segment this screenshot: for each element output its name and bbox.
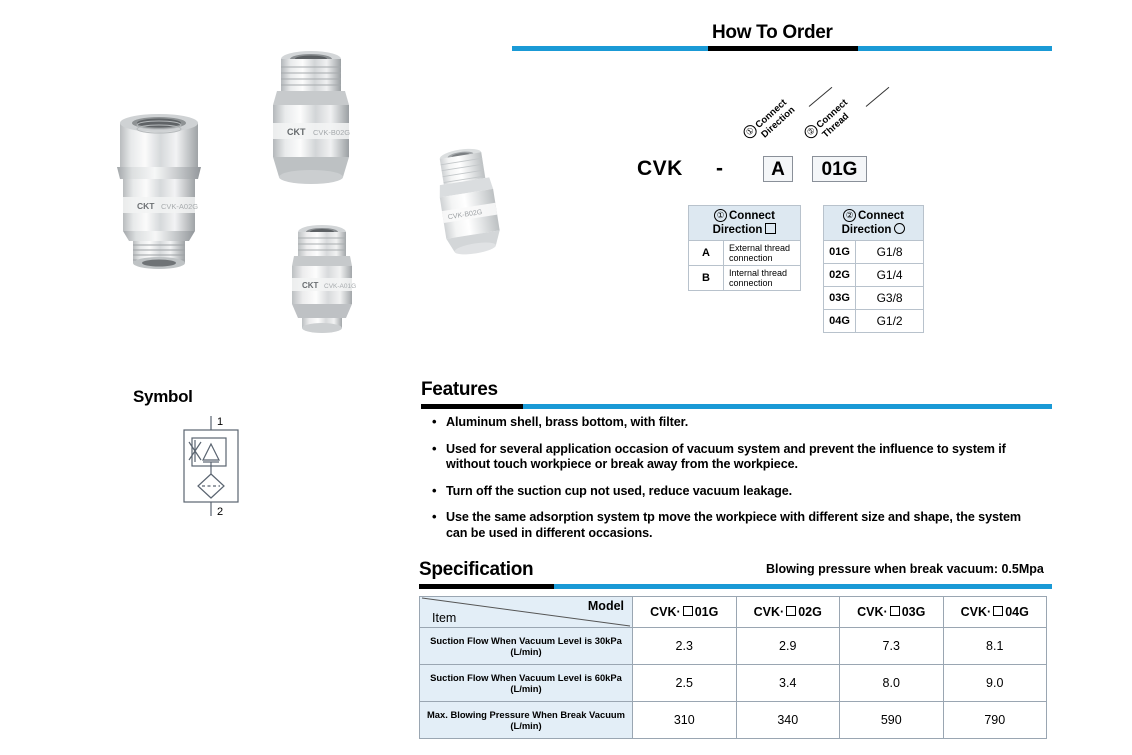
row-label-l2: (L/min): [510, 720, 541, 731]
spec-value: 340: [736, 702, 840, 739]
spec-value: 8.1: [943, 628, 1047, 665]
valve-photo-left: CKT CVK-A02G: [103, 105, 215, 270]
table-row[interactable]: A External thread connection: [689, 241, 801, 266]
thread-table-header: ②Connect Direction: [824, 206, 924, 241]
thread-code-01g: 01G: [824, 241, 856, 264]
feature-item: Use the same adsorption system tp move t…: [430, 510, 1030, 541]
col-suffix: 02G: [798, 605, 822, 619]
square-icon: [765, 223, 776, 234]
thread-value-02g: G1/4: [856, 264, 924, 287]
table-head-row: ①Connect Direction: [689, 206, 801, 241]
spec-value: 310: [633, 702, 737, 739]
feature-item: Turn off the suction cup not used, reduc…: [430, 484, 1030, 500]
row-label-l2: (L/min): [510, 683, 541, 694]
direction-desc-b-l1: Internal thread: [729, 268, 787, 278]
thread-code-02g: 02G: [824, 264, 856, 287]
square-icon: [993, 606, 1003, 616]
order-dash: -: [716, 157, 724, 181]
symbol-port-1: 1: [217, 416, 223, 428]
features-list: Aluminum shell, brass bottom, with filte…: [430, 415, 1030, 552]
symbol-heading: Symbol: [133, 387, 193, 407]
thread-code-04g: 04G: [824, 310, 856, 333]
valve-marking: CKT: [137, 201, 155, 211]
spec-row-label-3: Max. Blowing Pressure When Break Vacuum …: [420, 702, 633, 739]
spec-corner-item: Item: [432, 611, 456, 625]
row-label-l1: Suction Flow When Vacuum Level is 30kPa: [430, 635, 622, 646]
direction-code-a: A: [689, 241, 724, 266]
feature-item: Used for several application occasion of…: [430, 442, 1030, 473]
col-suffix: 04G: [1005, 605, 1029, 619]
order-series-label: CVK: [637, 157, 683, 181]
spec-value: 2.3: [633, 628, 737, 665]
table-head-row: Item Model CVK·01G CVK·02G CVK·03G CVK·0…: [420, 597, 1047, 628]
spec-corner-model: Model: [588, 599, 624, 613]
square-icon: [890, 606, 900, 616]
how-to-order-rule: [512, 46, 1052, 51]
row-label-l1: Max. Blowing Pressure When Break Vacuum: [427, 709, 625, 720]
col-prefix: CVK·: [650, 605, 681, 619]
direction-table-header: ①Connect Direction: [689, 206, 801, 241]
callout-direction: ①Connect Direction: [757, 148, 758, 149]
direction-desc-a: External thread connection: [724, 241, 801, 266]
valve-photo-bottom: CKT CVK-A01G: [276, 218, 368, 336]
specification-heading: Specification: [419, 559, 533, 581]
rule-black-segment: [419, 584, 554, 589]
table-row: Suction Flow When Vacuum Level is 60kPa …: [420, 665, 1047, 702]
thread-header-line1: Connect: [858, 210, 904, 222]
valve-marking-code: CVK-A01G: [324, 283, 356, 290]
table-row[interactable]: 04G G1/2: [824, 310, 924, 333]
symbol-port-2: 2: [217, 506, 223, 516]
callout-thread-leader: [866, 87, 890, 107]
table-row: Max. Blowing Pressure When Break Vacuum …: [420, 702, 1047, 739]
spec-row-label-1: Suction Flow When Vacuum Level is 30kPa …: [420, 628, 633, 665]
square-icon: [683, 606, 693, 616]
vacuum-valve-schematic-icon: 1 2: [176, 416, 248, 516]
symbol-diagram: 1 2: [176, 416, 248, 521]
order-direction-box[interactable]: A: [763, 156, 793, 182]
spec-value: 7.3: [840, 628, 944, 665]
rule-black-segment: [708, 46, 858, 51]
features-heading: Features: [421, 379, 498, 401]
callout-direction-label: ①Connect Direction: [741, 95, 797, 149]
datasheet-page: How To Order CVK - A 01G ①Connect Direct…: [0, 0, 1132, 755]
spec-value: 2.9: [736, 628, 840, 665]
spec-value: 590: [840, 702, 944, 739]
square-icon: [786, 606, 796, 616]
col-suffix: 01G: [695, 605, 719, 619]
spec-value: 2.5: [633, 665, 737, 702]
direction-desc-a-l1: External thread: [729, 243, 790, 253]
table-head-row: ②Connect Direction: [824, 206, 924, 241]
spec-note: Blowing pressure when break vacuum: 0.5M…: [766, 562, 1044, 576]
direction-header-num: ①: [714, 209, 727, 222]
thread-value-04g: G1/2: [856, 310, 924, 333]
table-row[interactable]: 02G G1/4: [824, 264, 924, 287]
table-row[interactable]: B Internal thread connection: [689, 266, 801, 291]
spec-value: 790: [943, 702, 1047, 739]
table-row: Suction Flow When Vacuum Level is 30kPa …: [420, 628, 1047, 665]
specification-table: Item Model CVK·01G CVK·02G CVK·03G CVK·0…: [419, 596, 1047, 739]
spec-column-header-01g: CVK·01G: [633, 597, 737, 628]
col-prefix: CVK·: [961, 605, 992, 619]
order-thread-box[interactable]: 01G: [812, 156, 867, 182]
valve-marking: CKT: [302, 281, 319, 290]
valve-photo-right: CVK-B02G: [415, 137, 521, 269]
rule-black-segment: [421, 404, 523, 409]
valve-photo-top: CKT CVK-B02G: [259, 45, 363, 185]
thread-header-num: ②: [843, 209, 856, 222]
table-row[interactable]: 03G G3/8: [824, 287, 924, 310]
thread-header-line2: Direction: [842, 224, 892, 236]
callout-thread: ②Connect Thread: [818, 148, 819, 149]
feature-item: Aluminum shell, brass bottom, with filte…: [430, 415, 1030, 431]
spec-value: 9.0: [943, 665, 1047, 702]
col-prefix: CVK·: [857, 605, 888, 619]
features-rule: [421, 404, 1052, 409]
spec-value: 3.4: [736, 665, 840, 702]
thread-value-03g: G3/8: [856, 287, 924, 310]
spec-corner-cell: Item Model: [420, 597, 633, 628]
direction-code-b: B: [689, 266, 724, 291]
circle-icon: [894, 223, 905, 234]
connect-direction-table: ①Connect Direction A External thread con…: [688, 205, 801, 291]
callout-direction-leader: [809, 87, 833, 107]
valve-marking-code: CVK-A02G: [161, 202, 198, 211]
direction-desc-b-l2: connection: [729, 278, 773, 288]
valve-marking-code: CVK-B02G: [313, 128, 350, 137]
spec-column-header-04g: CVK·04G: [943, 597, 1047, 628]
valve-marking: CKT: [287, 127, 306, 137]
direction-desc-b: Internal thread connection: [724, 266, 801, 291]
row-label-l1: Suction Flow When Vacuum Level is 60kPa: [430, 672, 622, 683]
direction-header-line2: Direction: [713, 224, 763, 236]
direction-header-line1: Connect: [729, 210, 775, 222]
thread-value-01g: G1/8: [856, 241, 924, 264]
direction-desc-a-l2: connection: [729, 253, 773, 263]
spec-column-header-02g: CVK·02G: [736, 597, 840, 628]
spec-column-header-03g: CVK·03G: [840, 597, 944, 628]
col-suffix: 03G: [902, 605, 926, 619]
spec-row-label-2: Suction Flow When Vacuum Level is 60kPa …: [420, 665, 633, 702]
specification-rule: [419, 584, 1052, 589]
spec-value: 8.0: [840, 665, 944, 702]
row-label-l2: (L/min): [510, 646, 541, 657]
how-to-order-heading: How To Order: [712, 22, 833, 44]
col-prefix: CVK·: [754, 605, 785, 619]
thread-code-03g: 03G: [824, 287, 856, 310]
table-row[interactable]: 01G G1/8: [824, 241, 924, 264]
connect-thread-table: ②Connect Direction 01G G1/8 02G G1/4 03G…: [823, 205, 924, 333]
